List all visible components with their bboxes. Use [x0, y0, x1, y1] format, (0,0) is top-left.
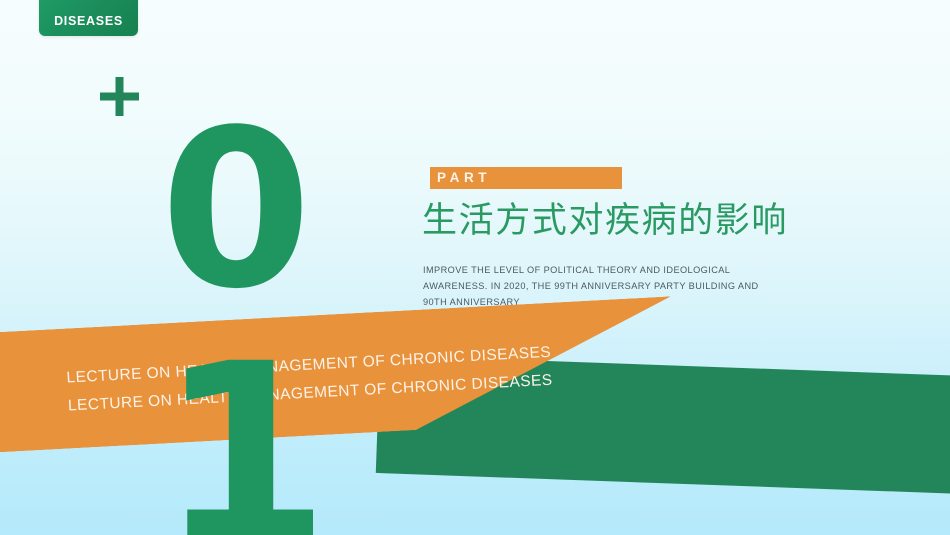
part-badge: PART	[430, 167, 622, 189]
slide-canvas: DISEASES 0 LECTURE ON HEALTH MANAGEMENT …	[0, 0, 950, 535]
section-number-zero: 0	[160, 113, 310, 309]
diseases-tab[interactable]: DISEASES	[39, 0, 138, 36]
section-number-one: 1	[158, 348, 313, 535]
page-title: 生活方式对疾病的影响	[422, 200, 788, 243]
plus-icon	[100, 77, 139, 116]
diseases-tab-label: DISEASES	[54, 15, 123, 28]
part-badge-label: PART	[437, 171, 491, 185]
